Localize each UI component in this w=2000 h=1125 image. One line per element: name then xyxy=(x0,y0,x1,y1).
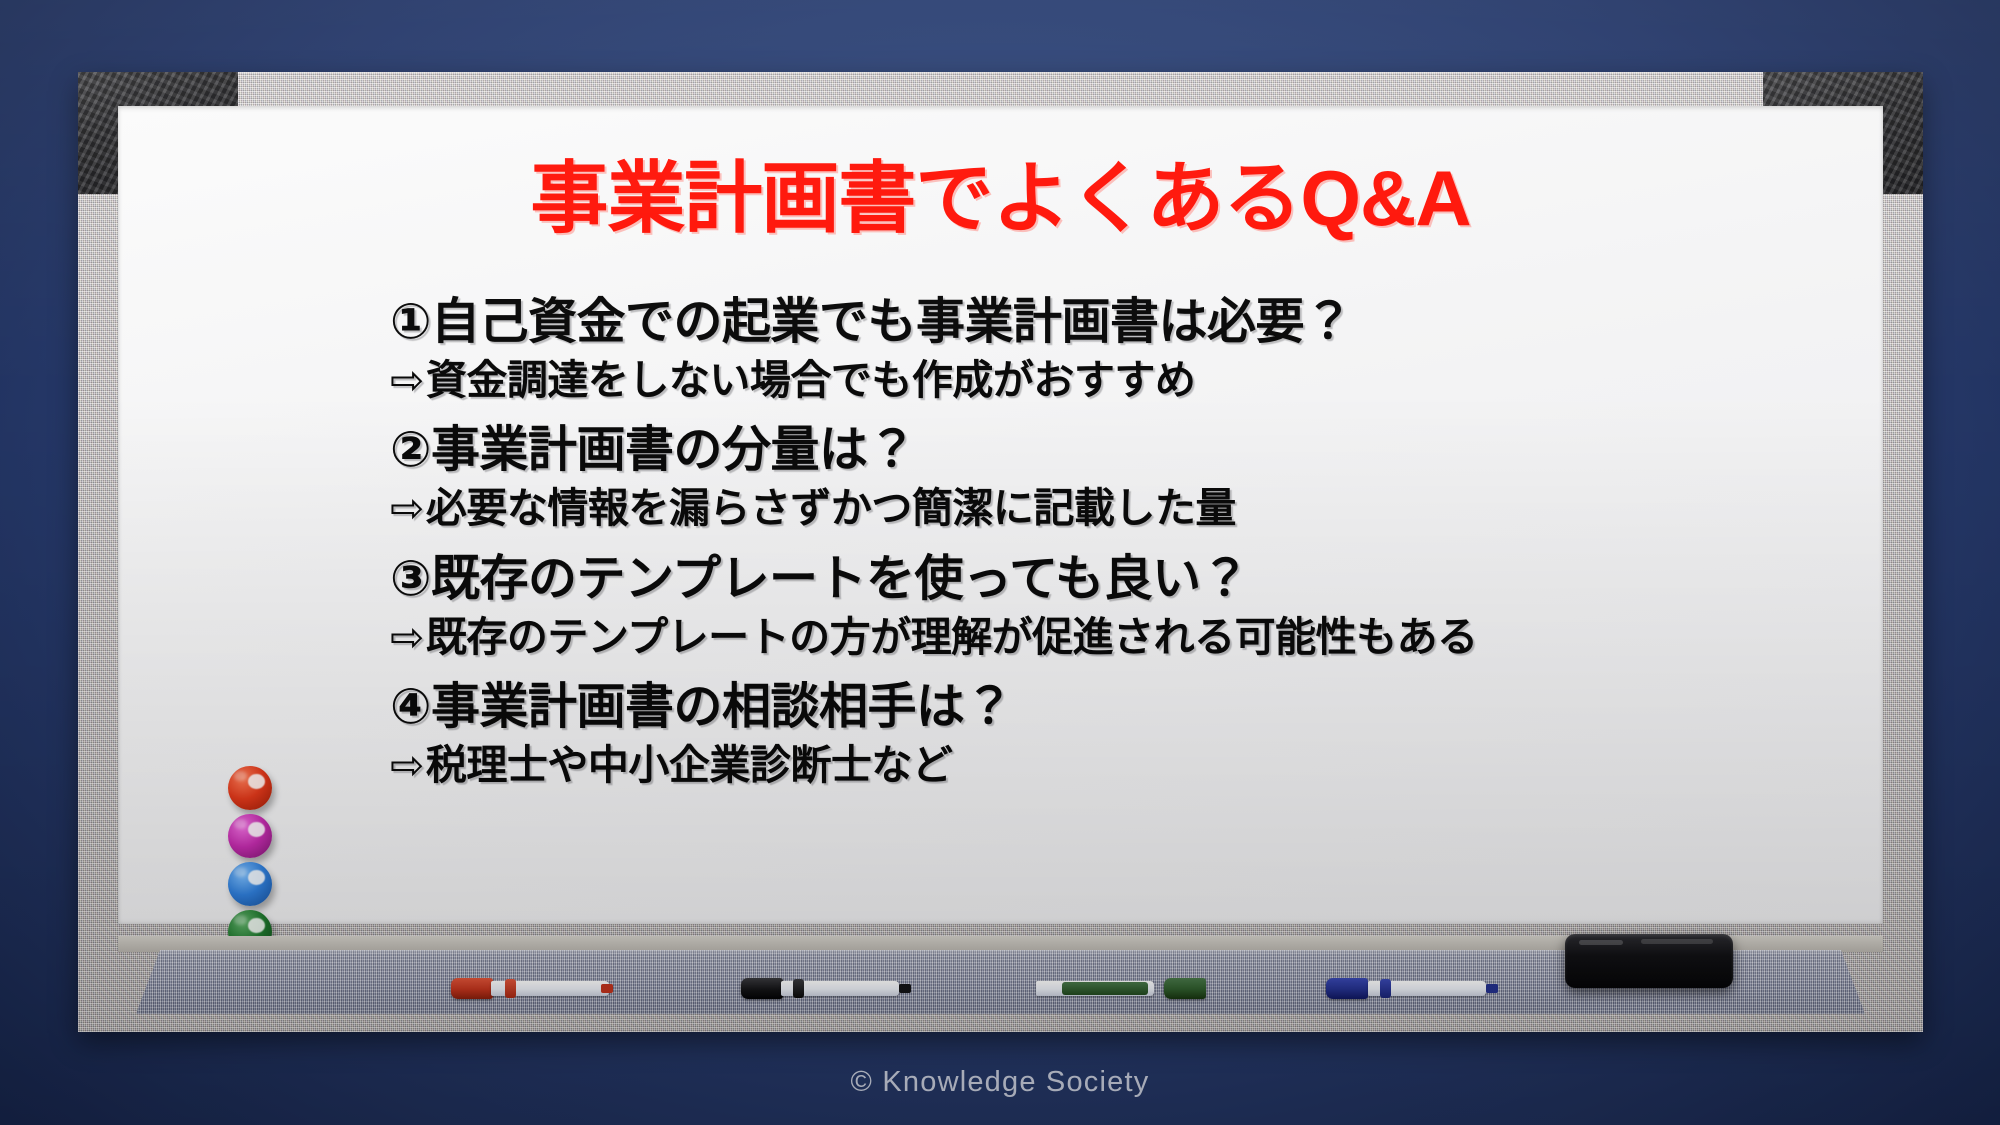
qa-item: ①自己資金での起業でも事業計画書は必要？ ⇨資金調達をしない場合でも作成がおすす… xyxy=(390,292,1823,406)
qa-question: ①自己資金での起業でも事業計画書は必要？ xyxy=(390,292,1823,353)
qa-item: ②事業計画書の分量は？ ⇨必要な情報を漏らさずかつ簡潔に記載した量 xyxy=(390,420,1823,534)
qa-answer-text: 既存のテンプレートの方が理解が促進される可能性もある xyxy=(426,614,1478,660)
qa-list: ①自己資金での起業でも事業計画書は必要？ ⇨資金調達をしない場合でも作成がおすす… xyxy=(390,292,1823,806)
marker-blue[interactable] xyxy=(1326,976,1526,1000)
arrow-icon: ⇨ xyxy=(390,485,424,531)
marker-green[interactable] xyxy=(1036,976,1231,1000)
arrow-icon: ⇨ xyxy=(390,742,424,788)
qa-question: ②事業計画書の分量は？ xyxy=(390,420,1823,481)
qa-answer-text: 資金調達をしない場合でも作成がおすすめ xyxy=(426,357,1196,403)
arrow-icon: ⇨ xyxy=(390,614,424,660)
slide-canvas: 事業計画書でよくあるQ&A ①自己資金での起業でも事業計画書は必要？ ⇨資金調達… xyxy=(0,0,2000,1125)
whiteboard-surface: 事業計画書でよくあるQ&A ①自己資金での起業でも事業計画書は必要？ ⇨資金調達… xyxy=(118,106,1883,924)
qa-answer-text: 必要な情報を漏らさずかつ簡潔に記載した量 xyxy=(426,485,1236,531)
whiteboard-eraser[interactable] xyxy=(1565,934,1733,988)
qa-item: ④事業計画書の相談相手は？ ⇨税理士や中小企業診断士など xyxy=(390,677,1823,791)
footer-credit: © Knowledge Society xyxy=(0,1066,2000,1099)
qa-question: ④事業計画書の相談相手は？ xyxy=(390,677,1823,738)
qa-answer: ⇨税理士や中小企業診断士など xyxy=(390,740,1823,792)
slide-content: 事業計画書でよくあるQ&A ①自己資金での起業でも事業計画書は必要？ ⇨資金調達… xyxy=(118,106,1883,924)
marker-black[interactable] xyxy=(741,976,936,1000)
marker-red[interactable] xyxy=(451,976,641,1000)
whiteboard: 事業計画書でよくあるQ&A ①自己資金での起業でも事業計画書は必要？ ⇨資金調達… xyxy=(78,72,1923,1032)
qa-answer: ⇨必要な情報を漏らさずかつ簡潔に記載した量 xyxy=(390,483,1823,535)
arrow-icon: ⇨ xyxy=(390,357,424,403)
qa-item: ③既存のテンプレートを使っても良い？ ⇨既存のテンプレートの方が理解が促進される… xyxy=(390,549,1823,663)
qa-answer: ⇨資金調達をしない場合でも作成がおすすめ xyxy=(390,355,1823,407)
qa-answer-text: 税理士や中小企業診断士など xyxy=(426,742,953,788)
qa-answer: ⇨既存のテンプレートの方が理解が促進される可能性もある xyxy=(390,612,1823,664)
qa-question: ③既存のテンプレートを使っても良い？ xyxy=(390,549,1823,610)
page-title: 事業計画書でよくあるQ&A xyxy=(118,158,1883,240)
